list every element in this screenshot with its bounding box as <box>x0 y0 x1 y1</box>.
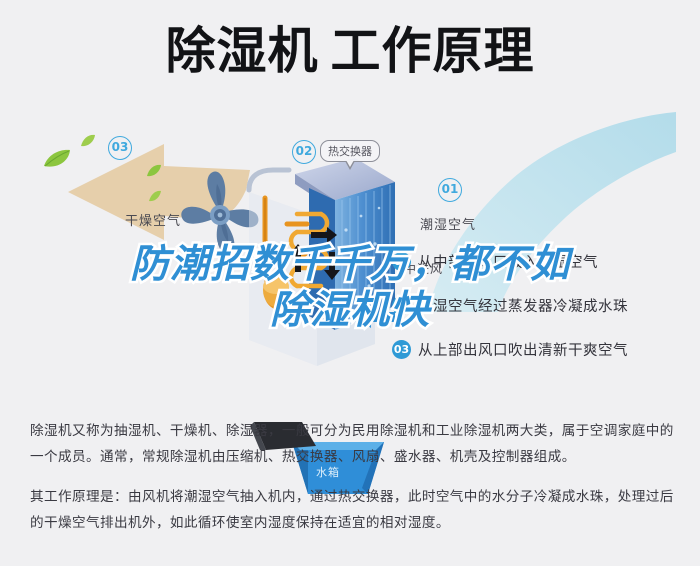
step-number: 01 <box>392 252 411 271</box>
step-item: 02 潮湿空气经过蒸发器冷凝成水珠 <box>392 290 692 320</box>
step-text: 从中部进风口吸入潮湿空气 <box>418 251 598 272</box>
step-text: 潮湿空气经过蒸发器冷凝成水珠 <box>418 295 628 316</box>
page-title-part2: 工作原理 <box>331 26 535 76</box>
step-number: 02 <box>392 296 411 315</box>
step-list: 01 从中部进风口吸入潮湿空气 02 潮湿空气经过蒸发器冷凝成水珠 03 从上部… <box>392 246 692 378</box>
leaf-icon <box>146 164 162 183</box>
leaf-icon <box>42 148 72 175</box>
heat-exchanger-callout: 热交换器 <box>320 140 380 162</box>
page-title-part1: 除湿机 <box>166 26 319 76</box>
step-number: 03 <box>392 340 411 359</box>
diagram-badge-01: 01 <box>438 178 462 202</box>
leaf-icon <box>148 190 162 208</box>
step-text: 从上部出风口吹出清新干爽空气 <box>418 339 628 360</box>
diagram-badge-02: 02 <box>292 140 316 164</box>
dry-air-label: 干燥空气 <box>125 210 181 229</box>
page-title: 除湿机工作原理 <box>0 26 700 76</box>
body-paragraph-2: 其工作原理是：由风机将潮湿空气抽入机内，通过热交换器，此时空气中的水分子冷凝成水… <box>30 484 675 536</box>
leaf-icon <box>80 134 96 153</box>
body-paragraph-1: 除湿机又称为抽湿机、干燥机、除湿器，一般可分为民用除湿机和工业除湿机两大类，属于… <box>30 418 675 470</box>
step-item: 03 从上部出风口吹出清新干爽空气 <box>392 334 692 364</box>
infographic-page: 除湿机工作原理 <box>0 0 700 566</box>
step-item: 01 从中部进风口吸入潮湿空气 <box>392 246 692 276</box>
diagram-badge-03: 03 <box>108 136 132 160</box>
humid-air-label: 潮湿空气 <box>420 214 476 233</box>
